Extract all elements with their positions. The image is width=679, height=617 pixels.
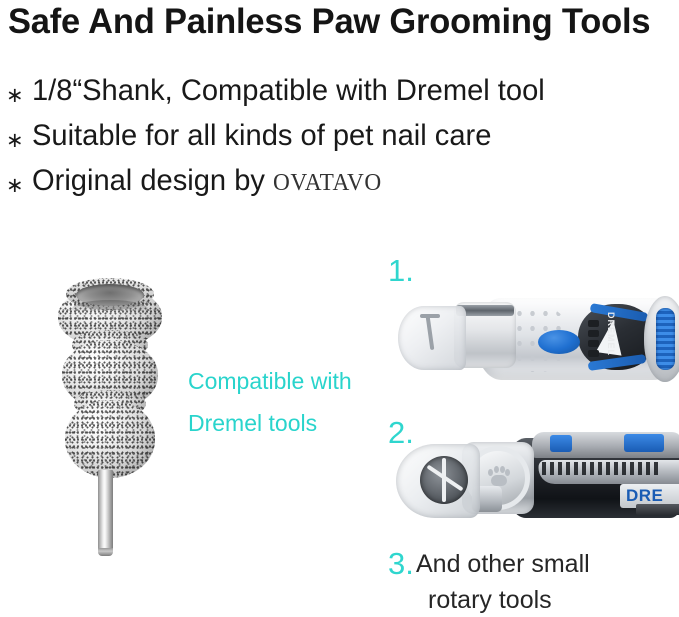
tool1-power-button[interactable]	[538, 330, 580, 354]
asterisk-bullet-icon: ∗	[6, 130, 32, 151]
item-3-caption-line-1: And other small	[416, 546, 646, 582]
brand-name: OVATAVO	[273, 170, 382, 196]
bullet-text: Suitable for all kinds of pet nail care	[32, 119, 491, 153]
tool2-speed-switch[interactable]	[624, 434, 664, 452]
list-item: ∗ Original design by OVATAVO	[6, 164, 666, 209]
tool2-power-switch[interactable]	[550, 435, 572, 452]
product-feature-image: Safe And Painless Paw Grooming Tools ∗ 1…	[0, 0, 679, 617]
page-title: Safe And Painless Paw Grooming Tools	[8, 2, 663, 42]
grinding-bit-illustration	[52, 278, 168, 556]
paw-print-icon	[488, 466, 510, 486]
item-3-caption: And other small rotary tools	[416, 546, 646, 617]
feature-bullet-list: ∗ 1/8“Shank, Compatible with Dremel tool…	[6, 74, 666, 209]
bit-shank	[98, 470, 113, 552]
bit-shank-tip	[98, 548, 113, 556]
item-number-1: 1.	[388, 255, 414, 286]
tool1-speed-slider[interactable]	[656, 308, 675, 370]
item-number-3: 3.	[388, 548, 414, 579]
tool1-vent	[588, 350, 599, 357]
callout-line-2: Dremel tools	[188, 402, 352, 444]
tool1-brand-text: DREMEL	[606, 312, 616, 356]
bullet-text: Original design by OVATAVO	[32, 164, 382, 200]
diamond-grit-texture	[65, 400, 155, 478]
item-3-caption-line-2: rotary tools	[416, 582, 646, 617]
asterisk-bullet-icon: ∗	[6, 175, 32, 196]
tool1-vent	[588, 340, 599, 347]
paw-toe	[505, 469, 510, 476]
paw-pad	[491, 475, 507, 486]
tool1-vent	[588, 330, 599, 337]
paw-toe	[488, 469, 493, 476]
compatibility-callout: Compatible with Dremel tools	[188, 360, 352, 444]
tool2-sub-plate	[636, 504, 679, 515]
callout-line-1: Compatible with	[188, 360, 352, 402]
bit-cup-shadow	[72, 300, 148, 318]
list-item: ∗ 1/8“Shank, Compatible with Dremel tool	[6, 74, 666, 119]
bit-lobe-bottom	[65, 400, 155, 478]
tool1-guard-slot-cross	[420, 314, 440, 318]
asterisk-bullet-icon: ∗	[6, 85, 32, 106]
tool1-vent	[588, 320, 599, 327]
dremel-pet-grinder-photo: DREMEL	[392, 286, 679, 398]
dremel-rotary-tool-photo: DRE	[392, 424, 679, 536]
bit-abrasive-head	[58, 278, 162, 478]
list-item: ∗ Suitable for all kinds of pet nail car…	[6, 119, 666, 164]
tool2-vents	[542, 462, 662, 475]
bullet-text-prefix: Original design by	[32, 164, 273, 197]
paw-toe	[494, 466, 499, 473]
tool2-brand-text: DRE	[626, 486, 663, 506]
bullet-text: 1/8“Shank, Compatible with Dremel tool	[32, 74, 545, 108]
